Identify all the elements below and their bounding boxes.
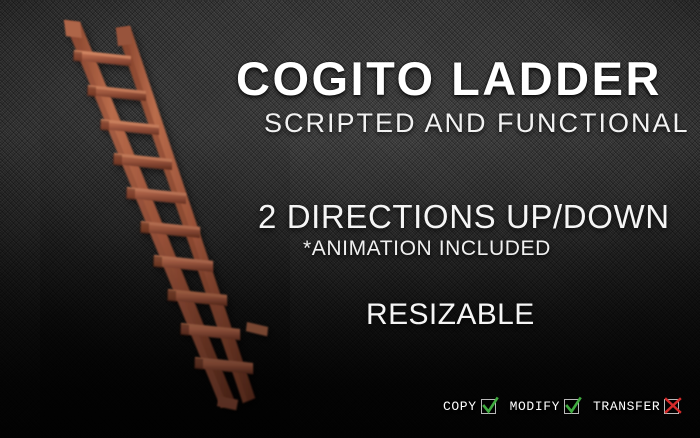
- feature-resizable: RESIZABLE: [366, 300, 535, 330]
- feature-directions: 2 DIRECTIONS UP/DOWN: [258, 200, 670, 233]
- permission-copy-label: COPY: [443, 399, 477, 414]
- cross-icon: [663, 396, 683, 416]
- permission-modify-label: MODIFY: [510, 399, 560, 414]
- modify-checkbox: [564, 399, 579, 414]
- permissions-bar: COPY MODIFY TRANSFER: [443, 399, 679, 414]
- transfer-checkbox: [664, 399, 679, 414]
- product-title: COGITO LADDER: [236, 55, 662, 102]
- copy-checkbox: [481, 399, 496, 414]
- permission-copy: COPY: [443, 399, 496, 414]
- product-advertisement-banner: COGITO LADDER SCRIPTED AND FUNCTIONAL 2 …: [0, 0, 700, 438]
- check-icon: [480, 396, 500, 416]
- permission-modify: MODIFY: [510, 399, 579, 414]
- permission-transfer-label: TRANSFER: [593, 399, 660, 414]
- feature-animation: *ANIMATION INCLUDED: [303, 238, 551, 259]
- permission-transfer: TRANSFER: [593, 399, 679, 414]
- product-subtitle: SCRIPTED AND FUNCTIONAL: [264, 110, 690, 137]
- check-icon: [563, 396, 583, 416]
